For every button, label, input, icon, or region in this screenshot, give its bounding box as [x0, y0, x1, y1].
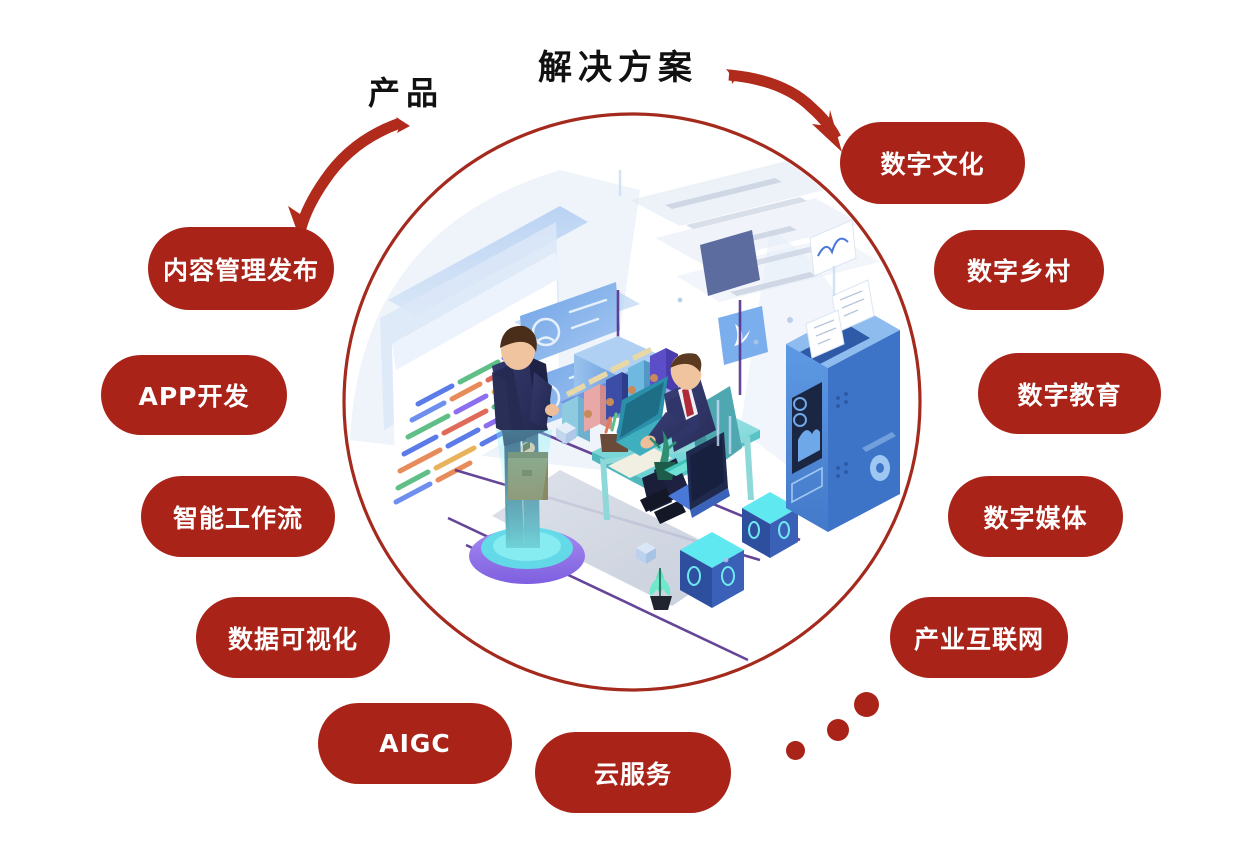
pill-aigc[interactable]: AIGC	[318, 703, 512, 784]
pill-digital-education[interactable]: 数字教育	[978, 353, 1161, 434]
pill-content-management-publishing[interactable]: 内容管理发布	[148, 227, 334, 310]
solution-heading: 解决方案	[538, 40, 698, 89]
decorative-dot-medium	[827, 719, 849, 741]
diagram-canvas: 产品 解决方案 内容管理发布 APP开发 智能工作流 数据可视化 AIGC 云服…	[0, 0, 1246, 854]
pill-intelligent-workflow[interactable]: 智能工作流	[141, 476, 335, 557]
pill-data-visualization[interactable]: 数据可视化	[196, 597, 390, 678]
pill-digital-media[interactable]: 数字媒体	[948, 476, 1123, 557]
decorative-dot-large	[854, 692, 879, 717]
solution-arrow	[726, 69, 842, 152]
pill-cloud-service[interactable]: 云服务	[535, 732, 731, 813]
pill-digital-village[interactable]: 数字乡村	[934, 230, 1104, 310]
pill-industrial-internet[interactable]: 产业互联网	[890, 597, 1068, 678]
pill-digital-culture[interactable]: 数字文化	[840, 122, 1025, 204]
product-heading: 产品	[368, 68, 444, 114]
decorative-dot-small	[786, 741, 805, 760]
pill-app-development[interactable]: APP开发	[101, 355, 287, 435]
product-arrow	[288, 117, 410, 242]
